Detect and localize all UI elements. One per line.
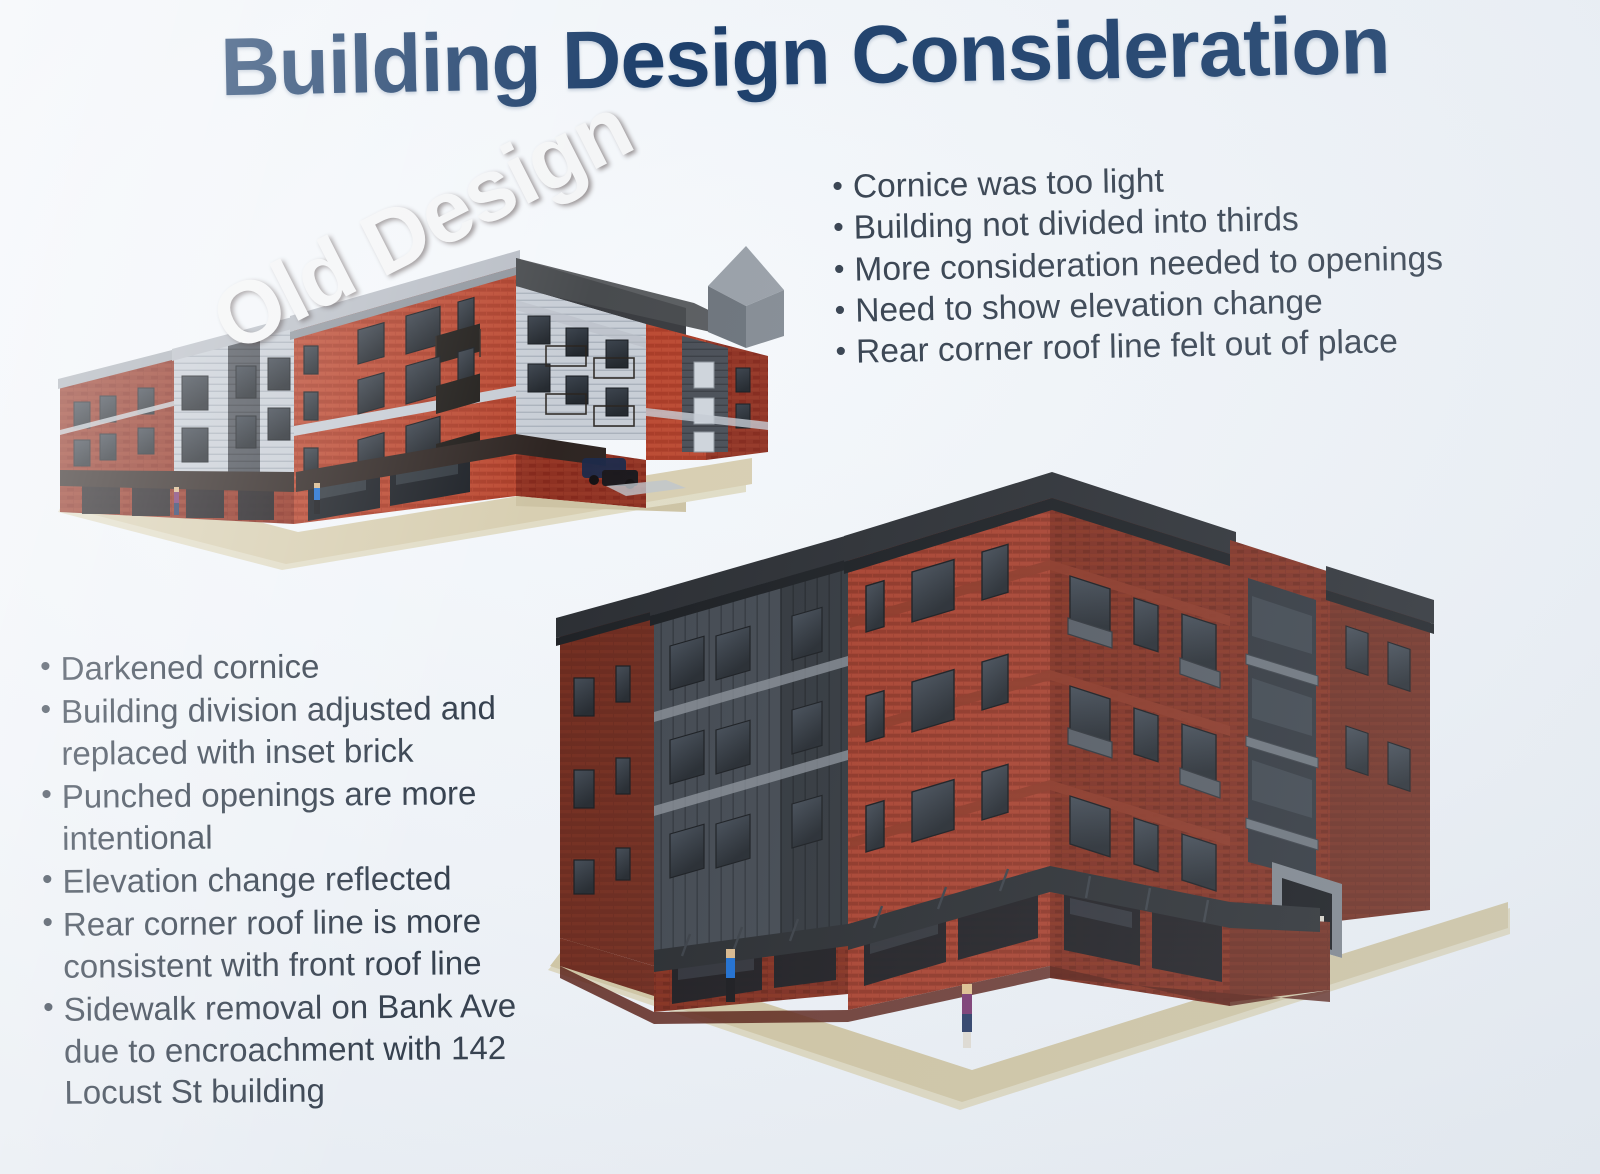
bullet-marker: • — [40, 652, 51, 682]
list-item: • Sidewalk removal on Bank Ave due to en… — [43, 985, 564, 1114]
new-design-figure-blue — [726, 949, 735, 1002]
presentation-slide: Building Design Consideration — [0, 0, 1600, 1174]
new-design-figure-purple — [962, 984, 972, 1048]
list-item-label: Elevation change reflected — [62, 856, 562, 902]
bullet-marker: • — [834, 255, 845, 285]
old-design-critique-list: • Cornice was too light • Building not d… — [832, 155, 1536, 375]
old-design-figure-a — [174, 487, 179, 515]
bullet-marker: • — [832, 172, 843, 202]
bullet-marker: • — [40, 695, 51, 725]
list-item: • Punched openings are more intentional — [41, 772, 562, 859]
bullet-marker: • — [42, 865, 53, 895]
page-title: Building Design Consideration — [179, 2, 1430, 112]
list-item-label: Sidewalk removal on Bank Ave due to encr… — [63, 985, 564, 1114]
list-item: • Elevation change reflected — [42, 856, 562, 902]
list-item: • Darkened cornice — [40, 643, 560, 689]
bullet-marker: • — [833, 213, 844, 243]
list-item: • Rear corner roof line is more consiste… — [42, 900, 563, 987]
list-item-label: Rear corner roof line is more consistent… — [63, 900, 563, 987]
bullet-marker: • — [834, 296, 845, 326]
new-design-rendering — [530, 410, 1530, 1150]
bullet-marker: • — [42, 908, 53, 938]
new-design-improvements-list: • Darkened cornice • Building division a… — [40, 643, 564, 1115]
bullet-marker: • — [41, 780, 52, 810]
list-item-label: Punched openings are more intentional — [62, 772, 562, 859]
list-item: • Building division adjusted and replace… — [40, 687, 561, 774]
bullet-marker: • — [43, 993, 54, 1023]
old-design-figure-b — [314, 483, 320, 514]
list-item-label: Building division adjusted and replaced … — [61, 687, 561, 774]
bullet-marker: • — [835, 337, 846, 367]
list-item-label: Darkened cornice — [61, 643, 561, 689]
